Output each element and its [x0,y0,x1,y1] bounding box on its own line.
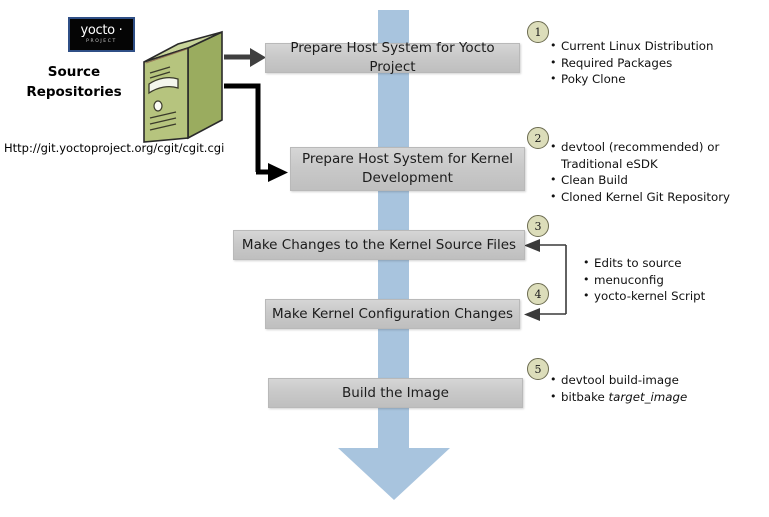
step-number-4: 4 [527,283,549,305]
step-number-1: 1 [527,21,549,43]
list-item: Poky Clone [550,71,762,88]
bitbake-prefix: bitbake [561,390,609,404]
process-box-make-kernel-config-changes[interactable]: Make Kernel Configuration Changes [265,299,520,329]
list-item: Required Packages [550,55,762,72]
step-5-bullets: devtool build-image bitbake target_image [550,372,762,405]
diagram-canvas: yocto · PROJECT Source Repositories Http… [0,0,769,517]
step-2-bullets: devtool (recommended) or Traditional eSD… [550,139,762,205]
process-box-prepare-host-yocto[interactable]: Prepare Host System for Yocto Project [265,43,520,73]
step-1-bullets: Current Linux Distribution Required Pack… [550,38,762,88]
list-item: Cloned Kernel Git Repository [550,189,762,206]
arrow-server-to-box2 [224,86,288,182]
list-item: bitbake target_image [550,389,762,406]
list-item: Clean Build [550,172,762,189]
bitbake-target-image: target_image [609,390,688,404]
step-number-5: 5 [527,358,549,380]
step-3-4-bullets: Edits to source menuconfig yocto-kernel … [583,255,763,305]
step-number-2: 2 [527,127,549,149]
list-item: Edits to source [583,255,763,272]
process-box-prepare-host-kernel[interactable]: Prepare Host System for Kernel Developme… [290,147,525,191]
list-item: Current Linux Distribution [550,38,762,55]
list-item: devtool build-image [550,372,762,389]
list-item: yocto-kernel Script [583,288,763,305]
bracket-to-box3-box4 [524,239,566,321]
process-box-build-the-image[interactable]: Build the Image [268,378,523,408]
list-item: devtool (recommended) or Traditional eSD… [550,139,762,172]
process-box-make-changes-kernel-source[interactable]: Make Changes to the Kernel Source Files [233,230,525,260]
list-item: menuconfig [583,272,763,289]
arrow-server-to-box1 [224,48,266,67]
step-number-3: 3 [527,215,549,237]
